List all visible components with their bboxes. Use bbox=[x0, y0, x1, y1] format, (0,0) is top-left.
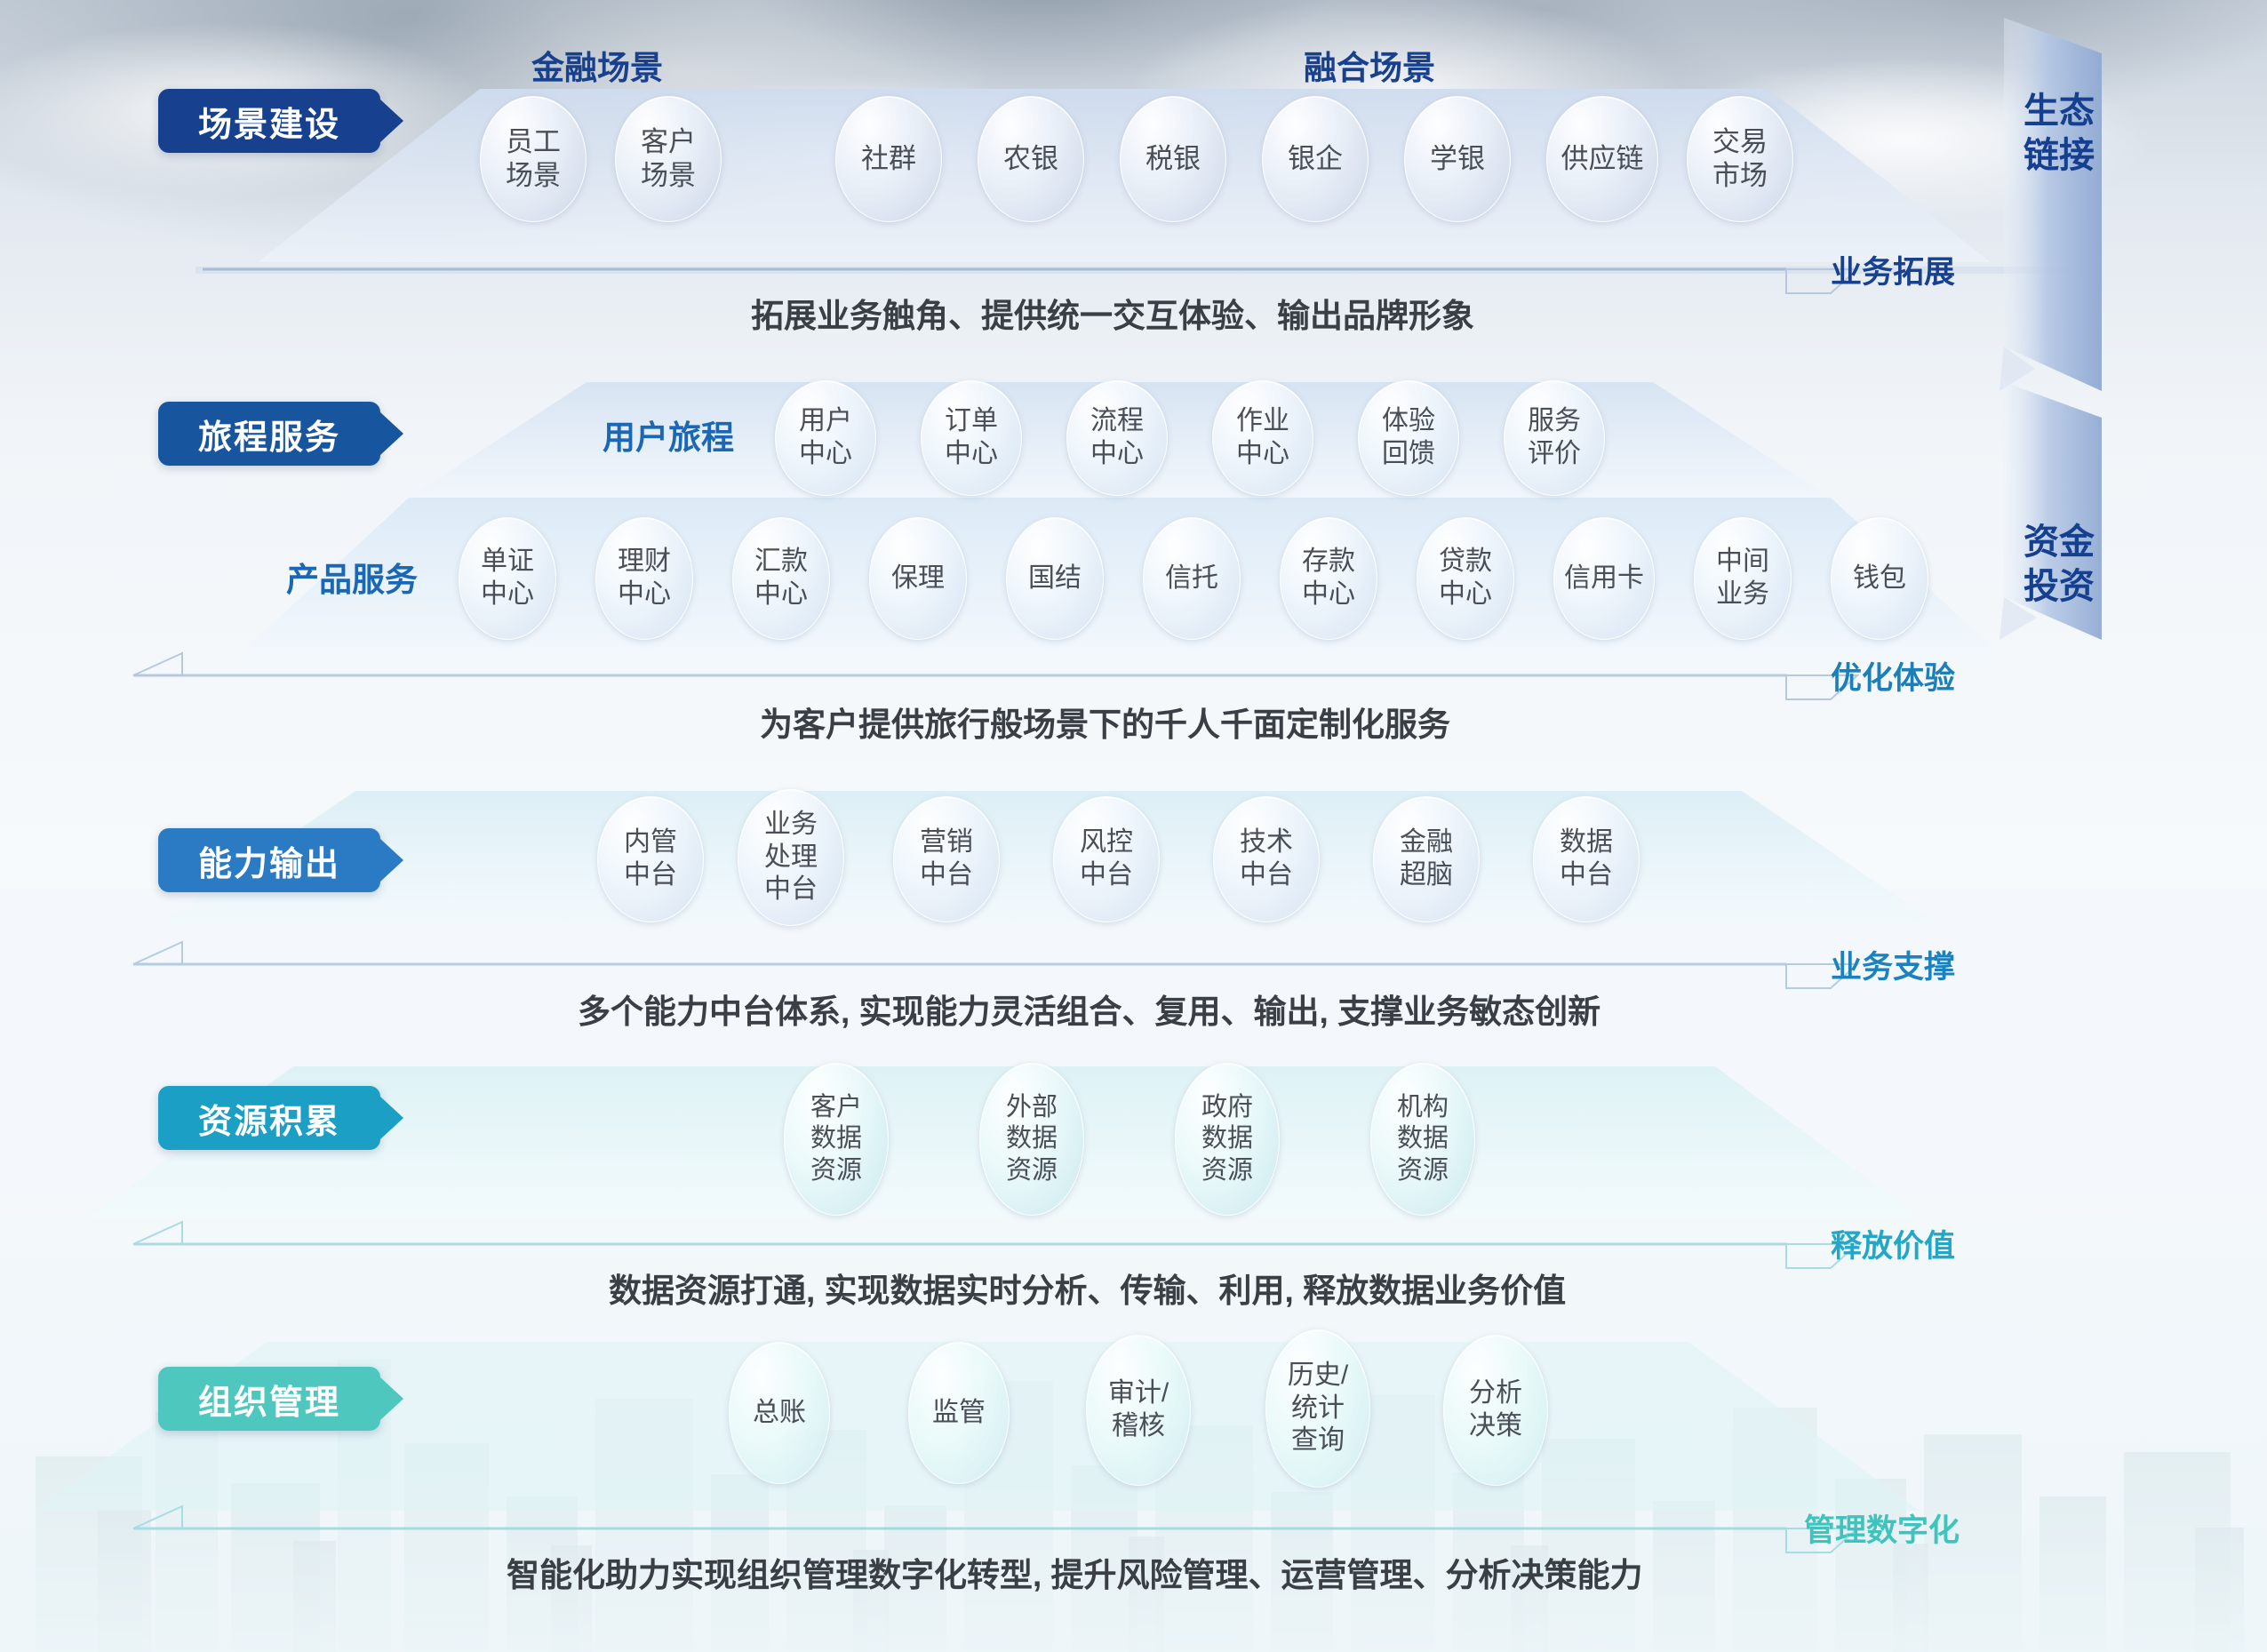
node-credit-card[interactable]: 信用卡 bbox=[1553, 517, 1655, 640]
layer-tag-org-label: 组织管理 bbox=[198, 1375, 340, 1424]
node-order-center[interactable]: 订单中心 bbox=[921, 380, 1022, 496]
node-customer-data-resource[interactable]: 客户数据资源 bbox=[784, 1063, 889, 1216]
layer-tag-capability[interactable]: 能力输出 bbox=[158, 828, 380, 892]
node-tax-bank[interactable]: 税银 bbox=[1120, 96, 1226, 222]
node-general-ledger[interactable]: 总账 bbox=[729, 1342, 830, 1484]
side-banner-fund-line2: 投资 bbox=[2024, 564, 2095, 609]
right-label-business-expansion: 业务拓展 bbox=[1831, 247, 1955, 292]
side-banner-fund-line1: 资金 bbox=[2024, 520, 2095, 564]
side-banner-eco-line2: 链接 bbox=[2024, 133, 2095, 178]
node-customer-scene[interactable]: 客户场景 bbox=[615, 96, 722, 222]
node-analysis-decision[interactable]: 分析决策 bbox=[1443, 1335, 1548, 1486]
node-process-center[interactable]: 流程中心 bbox=[1066, 380, 1168, 496]
node-community[interactable]: 社群 bbox=[835, 96, 942, 222]
node-institution-data-resource[interactable]: 机构数据资源 bbox=[1370, 1063, 1475, 1216]
node-external-data-resource[interactable]: 外部数据资源 bbox=[979, 1063, 1084, 1216]
node-financial-brain[interactable]: 金融超脑 bbox=[1373, 796, 1480, 922]
node-factoring[interactable]: 保理 bbox=[869, 517, 967, 640]
right-label-business-support: 业务支撑 bbox=[1831, 942, 1955, 987]
layer-tag-scene-label: 场景建设 bbox=[198, 97, 340, 146]
node-supply-chain[interactable]: 供应链 bbox=[1546, 96, 1658, 222]
layer-tag-org-arrow bbox=[380, 1377, 403, 1420]
right-label-optimize-experience: 优化体验 bbox=[1831, 653, 1955, 698]
caption-capability: 多个能力中台体系, 实现能力灵活组合、复用、输出, 支撑业务敏态创新 bbox=[578, 985, 1600, 1033]
node-marketing-platform[interactable]: 营销中台 bbox=[893, 796, 1000, 922]
layer-tag-resource-arrow bbox=[380, 1097, 403, 1139]
node-experience-feedback[interactable]: 体验回馈 bbox=[1358, 380, 1459, 496]
layer-tag-journey-arrow bbox=[380, 412, 403, 455]
node-operation-center[interactable]: 作业中心 bbox=[1212, 380, 1313, 496]
layer-tag-scene-arrow bbox=[380, 100, 403, 142]
node-school-bank[interactable]: 学银 bbox=[1404, 96, 1511, 222]
layer-tag-journey[interactable]: 旅程服务 bbox=[158, 402, 380, 466]
layer-tag-scene[interactable]: 场景建设 bbox=[158, 89, 380, 153]
node-trust[interactable]: 信托 bbox=[1143, 517, 1241, 640]
node-intermediary-business[interactable]: 中间业务 bbox=[1694, 517, 1792, 640]
caption-product: 为客户提供旅行般场景下的千人千面定制化服务 bbox=[760, 698, 1450, 746]
layer-tag-resource[interactable]: 资源积累 bbox=[158, 1086, 380, 1150]
node-employee-scene[interactable]: 员工场景 bbox=[480, 96, 587, 222]
layer-tag-journey-label: 旅程服务 bbox=[198, 410, 340, 459]
node-user-center[interactable]: 用户中心 bbox=[775, 380, 876, 496]
layer-tag-org[interactable]: 组织管理 bbox=[158, 1367, 380, 1431]
right-label-management-digitalization: 管理数字化 bbox=[1804, 1505, 1960, 1551]
node-history-statistics-query[interactable]: 历史/统计查询 bbox=[1265, 1329, 1370, 1488]
node-wallet[interactable]: 钱包 bbox=[1831, 517, 1928, 640]
group-label-product-service: 产品服务 bbox=[286, 553, 418, 601]
node-wealth-center[interactable]: 理财中心 bbox=[595, 517, 693, 640]
node-service-evaluation[interactable]: 服务评价 bbox=[1504, 380, 1605, 496]
group-label-financial-scene: 金融场景 bbox=[531, 41, 663, 89]
node-risk-control-platform[interactable]: 风控中台 bbox=[1053, 796, 1160, 922]
layer-tag-capability-label: 能力输出 bbox=[198, 836, 340, 885]
caption-resource: 数据资源打通, 实现数据实时分析、传输、利用, 释放数据业务价值 bbox=[609, 1264, 1566, 1312]
group-label-fusion-scene: 融合场景 bbox=[1304, 41, 1435, 89]
node-audit-inspection[interactable]: 审计/稽核 bbox=[1086, 1335, 1191, 1486]
side-banner-eco: 生态 链接 bbox=[2010, 62, 2108, 204]
node-agri-bank[interactable]: 农银 bbox=[978, 96, 1084, 222]
node-data-platform[interactable]: 数据中台 bbox=[1533, 796, 1640, 922]
node-internal-mgmt-platform[interactable]: 内管中台 bbox=[597, 796, 704, 922]
node-government-data-resource[interactable]: 政府数据资源 bbox=[1175, 1063, 1280, 1216]
caption-org: 智能化助力实现组织管理数字化转型, 提升风险管理、运营管理、分析决策能力 bbox=[507, 1548, 1643, 1596]
right-label-release-value: 释放价值 bbox=[1831, 1221, 1955, 1266]
node-trading-market[interactable]: 交易市场 bbox=[1687, 96, 1793, 222]
node-document-center[interactable]: 单证中心 bbox=[459, 517, 556, 640]
side-banner-fund: 资金 投资 bbox=[2010, 493, 2108, 635]
node-business-processing-platform[interactable]: 业务处理中台 bbox=[738, 789, 844, 926]
node-supervision[interactable]: 监管 bbox=[908, 1342, 1010, 1484]
node-loan-center[interactable]: 贷款中心 bbox=[1417, 517, 1514, 640]
node-remittance-center[interactable]: 汇款中心 bbox=[732, 517, 830, 640]
node-tech-platform[interactable]: 技术中台 bbox=[1213, 796, 1320, 922]
node-deposit-center[interactable]: 存款中心 bbox=[1280, 517, 1377, 640]
caption-scene: 拓展业务触角、提供统一交互体验、输出品牌形象 bbox=[751, 289, 1474, 337]
node-intl-settlement[interactable]: 国结 bbox=[1006, 517, 1104, 640]
layer-tag-capability-arrow bbox=[380, 839, 403, 882]
node-bank-enterprise[interactable]: 银企 bbox=[1262, 96, 1369, 222]
layer-tag-resource-label: 资源积累 bbox=[198, 1094, 340, 1143]
group-label-user-journey: 用户旅程 bbox=[603, 411, 734, 459]
side-banner-eco-line1: 生态 bbox=[2024, 89, 2095, 133]
